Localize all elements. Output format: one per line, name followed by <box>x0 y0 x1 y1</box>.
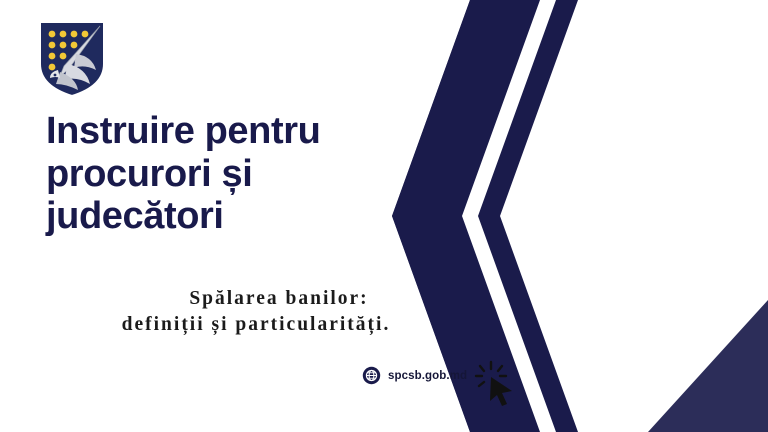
website-url: spcsb.gob.md <box>388 370 467 382</box>
title-line-3: judecători <box>46 195 446 238</box>
ceiling-light-secondary-icon <box>571 136 658 146</box>
slide-title: Instruire pentru procurori și judecători <box>46 110 446 238</box>
subtitle-line-2: definiții și particularități. <box>46 312 466 338</box>
coat-of-arms-emblem <box>38 20 106 98</box>
click-cursor-icon <box>474 360 518 408</box>
title-line-2: procurori și <box>46 153 446 196</box>
slide-subtitle: Spălarea banilor: definiții și particula… <box>46 286 466 338</box>
ceiling-projector-icon <box>563 78 583 121</box>
projected-slide-title: Legea 308/2017 art. 4 alin (2) <box>592 277 697 289</box>
globe-icon <box>362 366 381 385</box>
title-line-1: Instruire pentru <box>46 110 446 153</box>
audience-member-right <box>690 311 768 432</box>
website-badge[interactable]: spcsb.gob.md <box>362 366 467 385</box>
audience-scarf <box>635 380 686 432</box>
presentation-slide: Legea 308/2017 art. 4 alin (2) <box>0 0 768 432</box>
subtitle-line-1: Spălarea banilor: <box>46 286 466 312</box>
air-conditioner-icon <box>479 242 565 274</box>
wall-speaker-icon <box>593 225 671 235</box>
